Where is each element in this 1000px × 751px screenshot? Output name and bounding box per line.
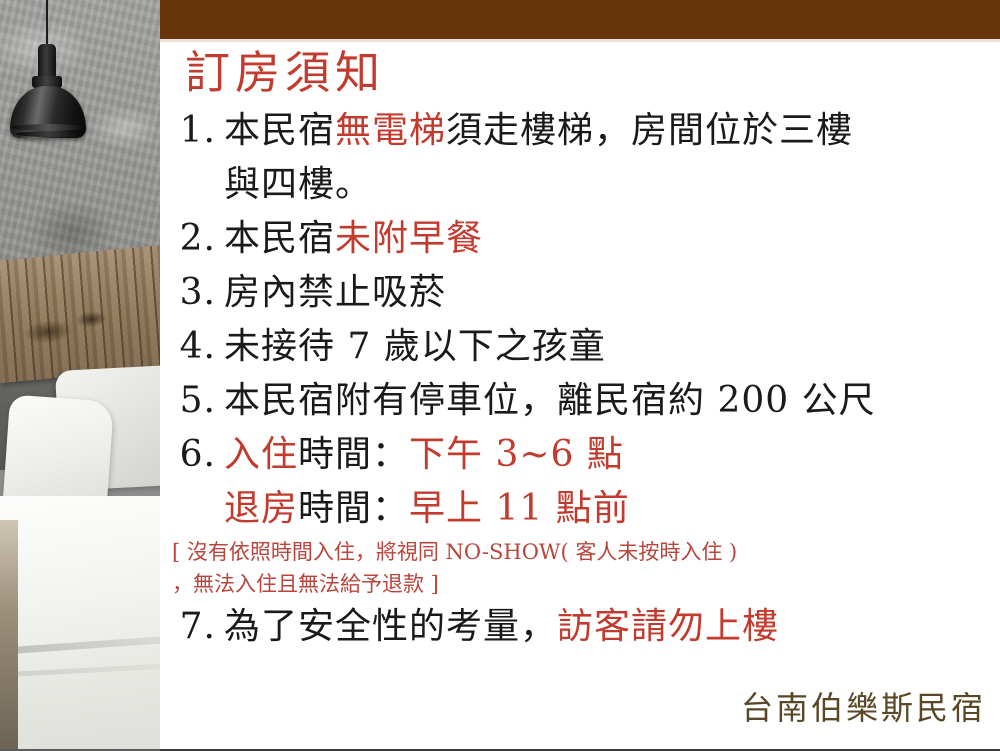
notice-text-highlight: 退房 [224,482,298,536]
pendant-lamp-ring-upper [12,124,84,131]
notice-text-highlight: 未附早餐 [335,212,483,266]
notice-footnote-line: ，無法入住且無法給予退款 ] [166,568,1000,600]
page-title: 訂房須知 [185,48,385,98]
notice-item-line: 與四樓。 [166,158,1000,212]
notice-item-number: 2. [166,212,224,266]
wood-beam-headboard [0,245,160,383]
notice-text: 與四樓。 [224,158,372,212]
notice-item-number: 3. [166,266,224,320]
notice-item-number: 7. [166,600,224,654]
notice-item-line: 4.未接待 7 歲以下之孩童 [166,320,1000,374]
pendant-lamp-ring-lower [16,131,80,137]
notice-text: 時間： [298,482,409,536]
notice-text: 本民宿 [224,212,335,266]
notice-item-line: 5.本民宿附有停車位，離民宿約 200 公尺 [166,374,1000,428]
header-brown-bar [160,0,1000,39]
notice-text: 未接待 7 歲以下之孩童 [224,320,606,374]
notice-item-number: 6. [166,428,224,482]
notice-item-line: 6.入住時間：下午 3~6 點 [166,428,1000,482]
bed-side-wall [0,520,18,751]
notice-text-highlight: 訪客請勿上樓 [557,600,779,654]
notice-panel: 訂房須知 1.本民宿無電梯須走樓梯，房間位於三樓與四樓。2.本民宿未附早餐3.房… [160,42,1000,751]
notice-item-line: 退房時間：早上 11 點前 [166,482,1000,536]
notice-list: 1.本民宿無電梯須走樓梯，房間位於三樓與四樓。2.本民宿未附早餐3.房內禁止吸菸… [166,104,1000,654]
footer-signature: 台南伯樂斯民宿 [741,683,986,729]
notice-text-highlight: 早上 11 點前 [409,482,630,536]
notice-item-line: 2.本民宿未附早餐 [166,212,1000,266]
notice-text-highlight: 下午 3~6 點 [409,428,624,482]
pendant-lamp-cord [46,0,48,46]
slide-page: 訂房須知 1.本民宿無電梯須走樓梯，房間位於三樓與四樓。2.本民宿未附早餐3.房… [0,0,1000,751]
notice-text: 時間： [298,428,409,482]
notice-footnote-line: [ 沒有依照時間入住，將視同 NO-SHOW( 客人未按時入住 ) [166,536,1000,568]
bedroom-photo [0,0,160,751]
notice-item-number: 5. [166,374,224,428]
notice-text: 須走樓梯，房間位於三樓 [446,104,853,158]
notice-item-line: 7.為了安全性的考量，訪客請勿上樓 [166,600,1000,654]
notice-text: 本民宿 [224,104,335,158]
notice-item-number: 1. [166,104,224,158]
notice-text: 房內禁止吸菸 [224,266,446,320]
pendant-lamp-neck [38,44,56,78]
notice-text: 本民宿附有停車位，離民宿約 200 公尺 [224,374,876,428]
notice-item-line: 3.房內禁止吸菸 [166,266,1000,320]
notice-text-highlight: 無電梯 [335,104,446,158]
notice-text: 為了安全性的考量， [224,600,557,654]
bed-duvet [0,496,160,751]
notice-text-highlight: 入住 [224,428,298,482]
notice-item-number: 4. [166,320,224,374]
notice-item-line: 1.本民宿無電梯須走樓梯，房間位於三樓 [166,104,1000,158]
